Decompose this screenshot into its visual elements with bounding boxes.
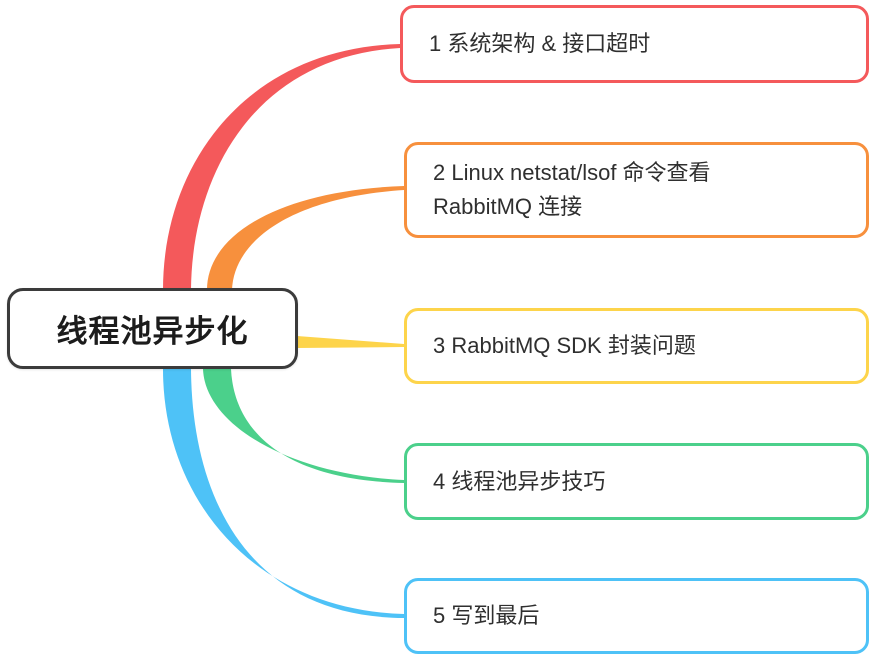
branch-node-5-label: 5 写到最后 bbox=[433, 599, 539, 633]
connector-branch-5 bbox=[163, 369, 404, 618]
branch-node-1-label: 1 系统架构 & 接口超时 bbox=[429, 27, 650, 61]
connector-branch-4 bbox=[203, 369, 404, 483]
branch-node-4[interactable]: 4 线程池异步技巧 bbox=[404, 443, 869, 520]
mindmap-canvas: 线程池异步化 1 系统架构 & 接口超时 2 Linux netstat/lso… bbox=[0, 0, 879, 659]
branch-node-1[interactable]: 1 系统架构 & 接口超时 bbox=[400, 5, 869, 83]
branch-node-3[interactable]: 3 RabbitMQ SDK 封装问题 bbox=[404, 308, 869, 384]
connector-branch-3 bbox=[297, 336, 404, 348]
root-node-label: 线程池异步化 bbox=[57, 306, 249, 351]
branch-node-5[interactable]: 5 写到最后 bbox=[404, 578, 869, 654]
connector-branch-2 bbox=[207, 186, 404, 290]
branch-node-2[interactable]: 2 Linux netstat/lsof 命令查看 RabbitMQ 连接 bbox=[404, 142, 869, 238]
root-node[interactable]: 线程池异步化 bbox=[7, 288, 298, 369]
branch-node-3-label: 3 RabbitMQ SDK 封装问题 bbox=[433, 329, 696, 363]
branch-node-2-label: 2 Linux netstat/lsof 命令查看 RabbitMQ 连接 bbox=[433, 156, 711, 224]
connector-branch-1 bbox=[163, 44, 400, 290]
branch-node-4-label: 4 线程池异步技巧 bbox=[433, 465, 605, 499]
